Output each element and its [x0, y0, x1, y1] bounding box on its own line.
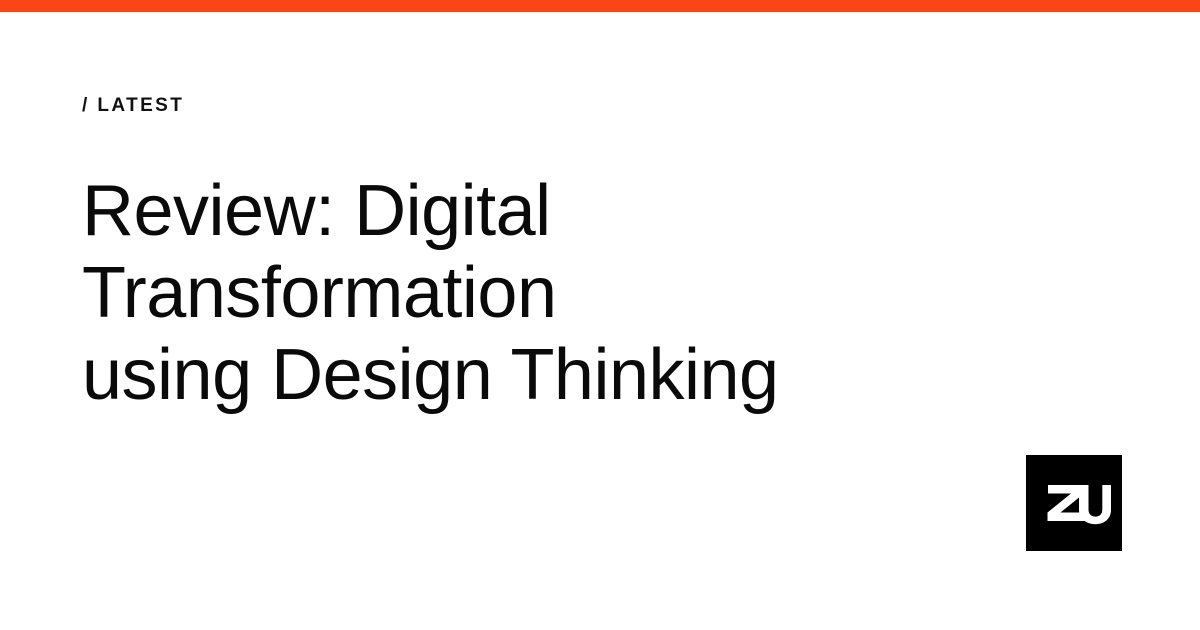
zu-wordmark-icon	[1026, 455, 1122, 551]
zu-logo[interactable]	[1026, 455, 1122, 551]
page-title-line-2: using Design Thinking	[82, 334, 1002, 416]
card-content: / LATEST Review: Digital Transformation …	[82, 96, 1042, 115]
page-title-line-1: Review: Digital Transformation	[82, 170, 1002, 334]
page-title: Review: Digital Transformation using Des…	[82, 170, 1002, 416]
share-card: / LATEST Review: Digital Transformation …	[0, 0, 1200, 630]
eyebrow-label: / LATEST	[82, 96, 1042, 115]
top-accent-bar	[0, 0, 1200, 12]
